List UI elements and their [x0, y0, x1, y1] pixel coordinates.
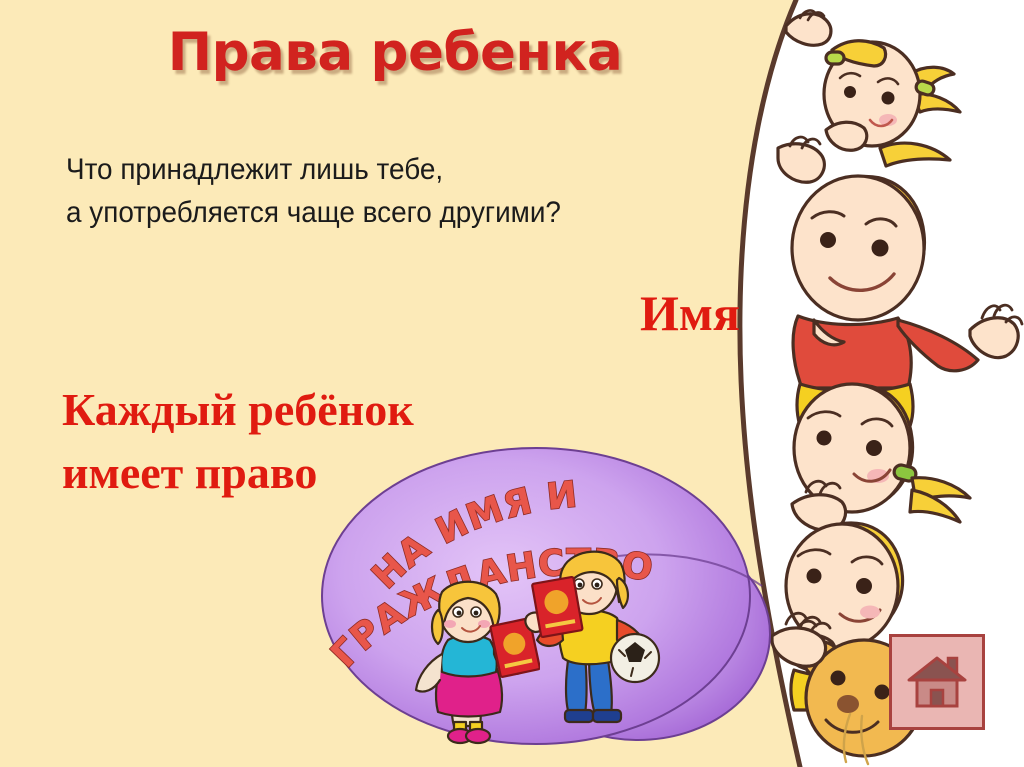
- home-button[interactable]: [889, 634, 985, 730]
- riddle-question-line-2: а употребляется чаще всего другими?: [66, 191, 561, 234]
- riddle-question: Что принадлежит лишь тебе, а употребляет…: [66, 148, 561, 234]
- kid-figure-girl-pigtails: [786, 11, 960, 166]
- home-icon: [905, 650, 969, 712]
- kid-figure-girl-green-clip: [792, 384, 970, 530]
- riddle-question-line-1: Что принадлежит лишь тебе,: [66, 148, 561, 191]
- riddle-answer: Имя: [420, 287, 740, 339]
- boy-passport: [532, 577, 583, 637]
- kid-figure-boy-red-shirt: [778, 137, 1022, 426]
- bubble-girl-with-passport: [410, 566, 540, 746]
- page-title: Права ребенка: [0, 22, 790, 83]
- rights-statement-line-2: имеет право: [62, 441, 414, 504]
- slide-root: Права ребенка Что принадлежит лишь тебе,…: [0, 0, 1024, 767]
- bubble-boy-with-passport: [523, 538, 673, 738]
- rights-statement-line-1: Каждый ребёнок: [62, 378, 414, 441]
- rights-statement: Каждый ребёнок имеет право: [62, 378, 414, 504]
